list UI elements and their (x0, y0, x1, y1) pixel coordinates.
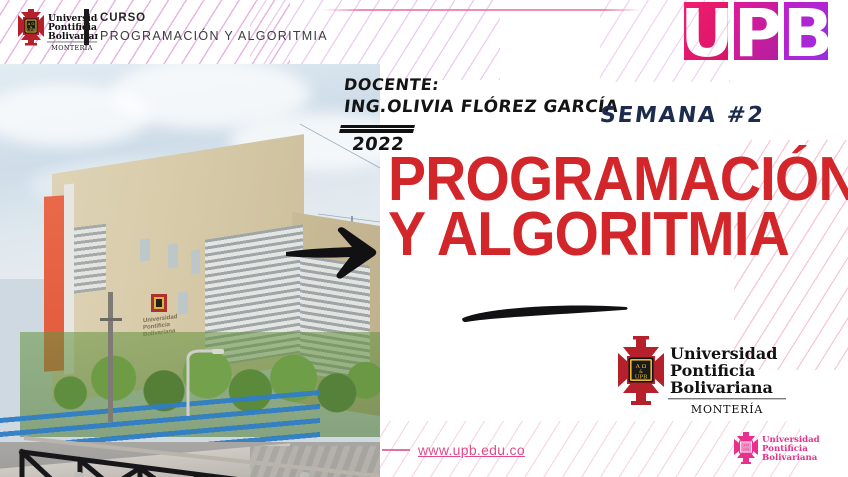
svg-text:UPB: UPB (635, 375, 648, 381)
hand-drawn-brush-underline-icon (460, 300, 630, 326)
logo-line3: Bolivariana (670, 378, 773, 397)
footer-logo-line3: Bolivariana (762, 453, 818, 463)
footer-dash (382, 449, 410, 451)
photo-window (140, 238, 150, 262)
photo-metal-railing (0, 394, 380, 477)
presentation-slide: UniversidadPontificiaBolivariana (0, 0, 848, 477)
logo-campus: MONTERÍA (691, 402, 764, 416)
header-divider (84, 9, 89, 45)
week-label: SEMANA #2 (598, 103, 766, 128)
photo-window (168, 243, 178, 269)
docente-label: DOCENTE: (343, 75, 441, 94)
header-text-block: CURSO PROGRAMACIÓN Y ALGORITMIA (100, 11, 328, 45)
photo-building-crest-icon (150, 292, 168, 314)
docente-name: ING.OLIVIA FLÓREZ GARCÍA (343, 97, 620, 117)
photo-window (178, 291, 188, 315)
svg-text:&: & (639, 369, 643, 374)
page-title: PROGRAMACIÓN Y ALGORITMIA (388, 152, 848, 262)
upb-shield-logo-pink: A Ω UPB Universidad Pontificia Bolivaria… (732, 431, 836, 465)
svg-text:A Ω: A Ω (742, 443, 749, 447)
svg-text:UPB: UPB (27, 28, 35, 32)
logo-line3: Bolivariana (48, 31, 98, 42)
course-label: CURSO (100, 11, 328, 26)
footer-url[interactable]: www.upb.edu.co (418, 442, 525, 458)
photo-window (191, 249, 200, 274)
year-label: 2022 (351, 134, 406, 155)
hand-drawn-double-rule-icon (339, 125, 415, 133)
header-pink-rule (322, 9, 642, 11)
hand-drawn-right-arrow-icon (286, 222, 378, 282)
course-name: PROGRAMACIÓN Y ALGORITMIA (100, 28, 328, 45)
upb-shield-logo: A Ω & UPB Universidad Pontificia Bolivar… (612, 335, 792, 419)
upb-wordmark: U P B (674, 0, 840, 64)
slide-header: A Ω & UPB Universidad Pontificia Bolivar… (0, 0, 848, 64)
svg-text:UPB: UPB (743, 448, 751, 452)
title-line-2: Y ALGORITMIA (388, 207, 848, 262)
